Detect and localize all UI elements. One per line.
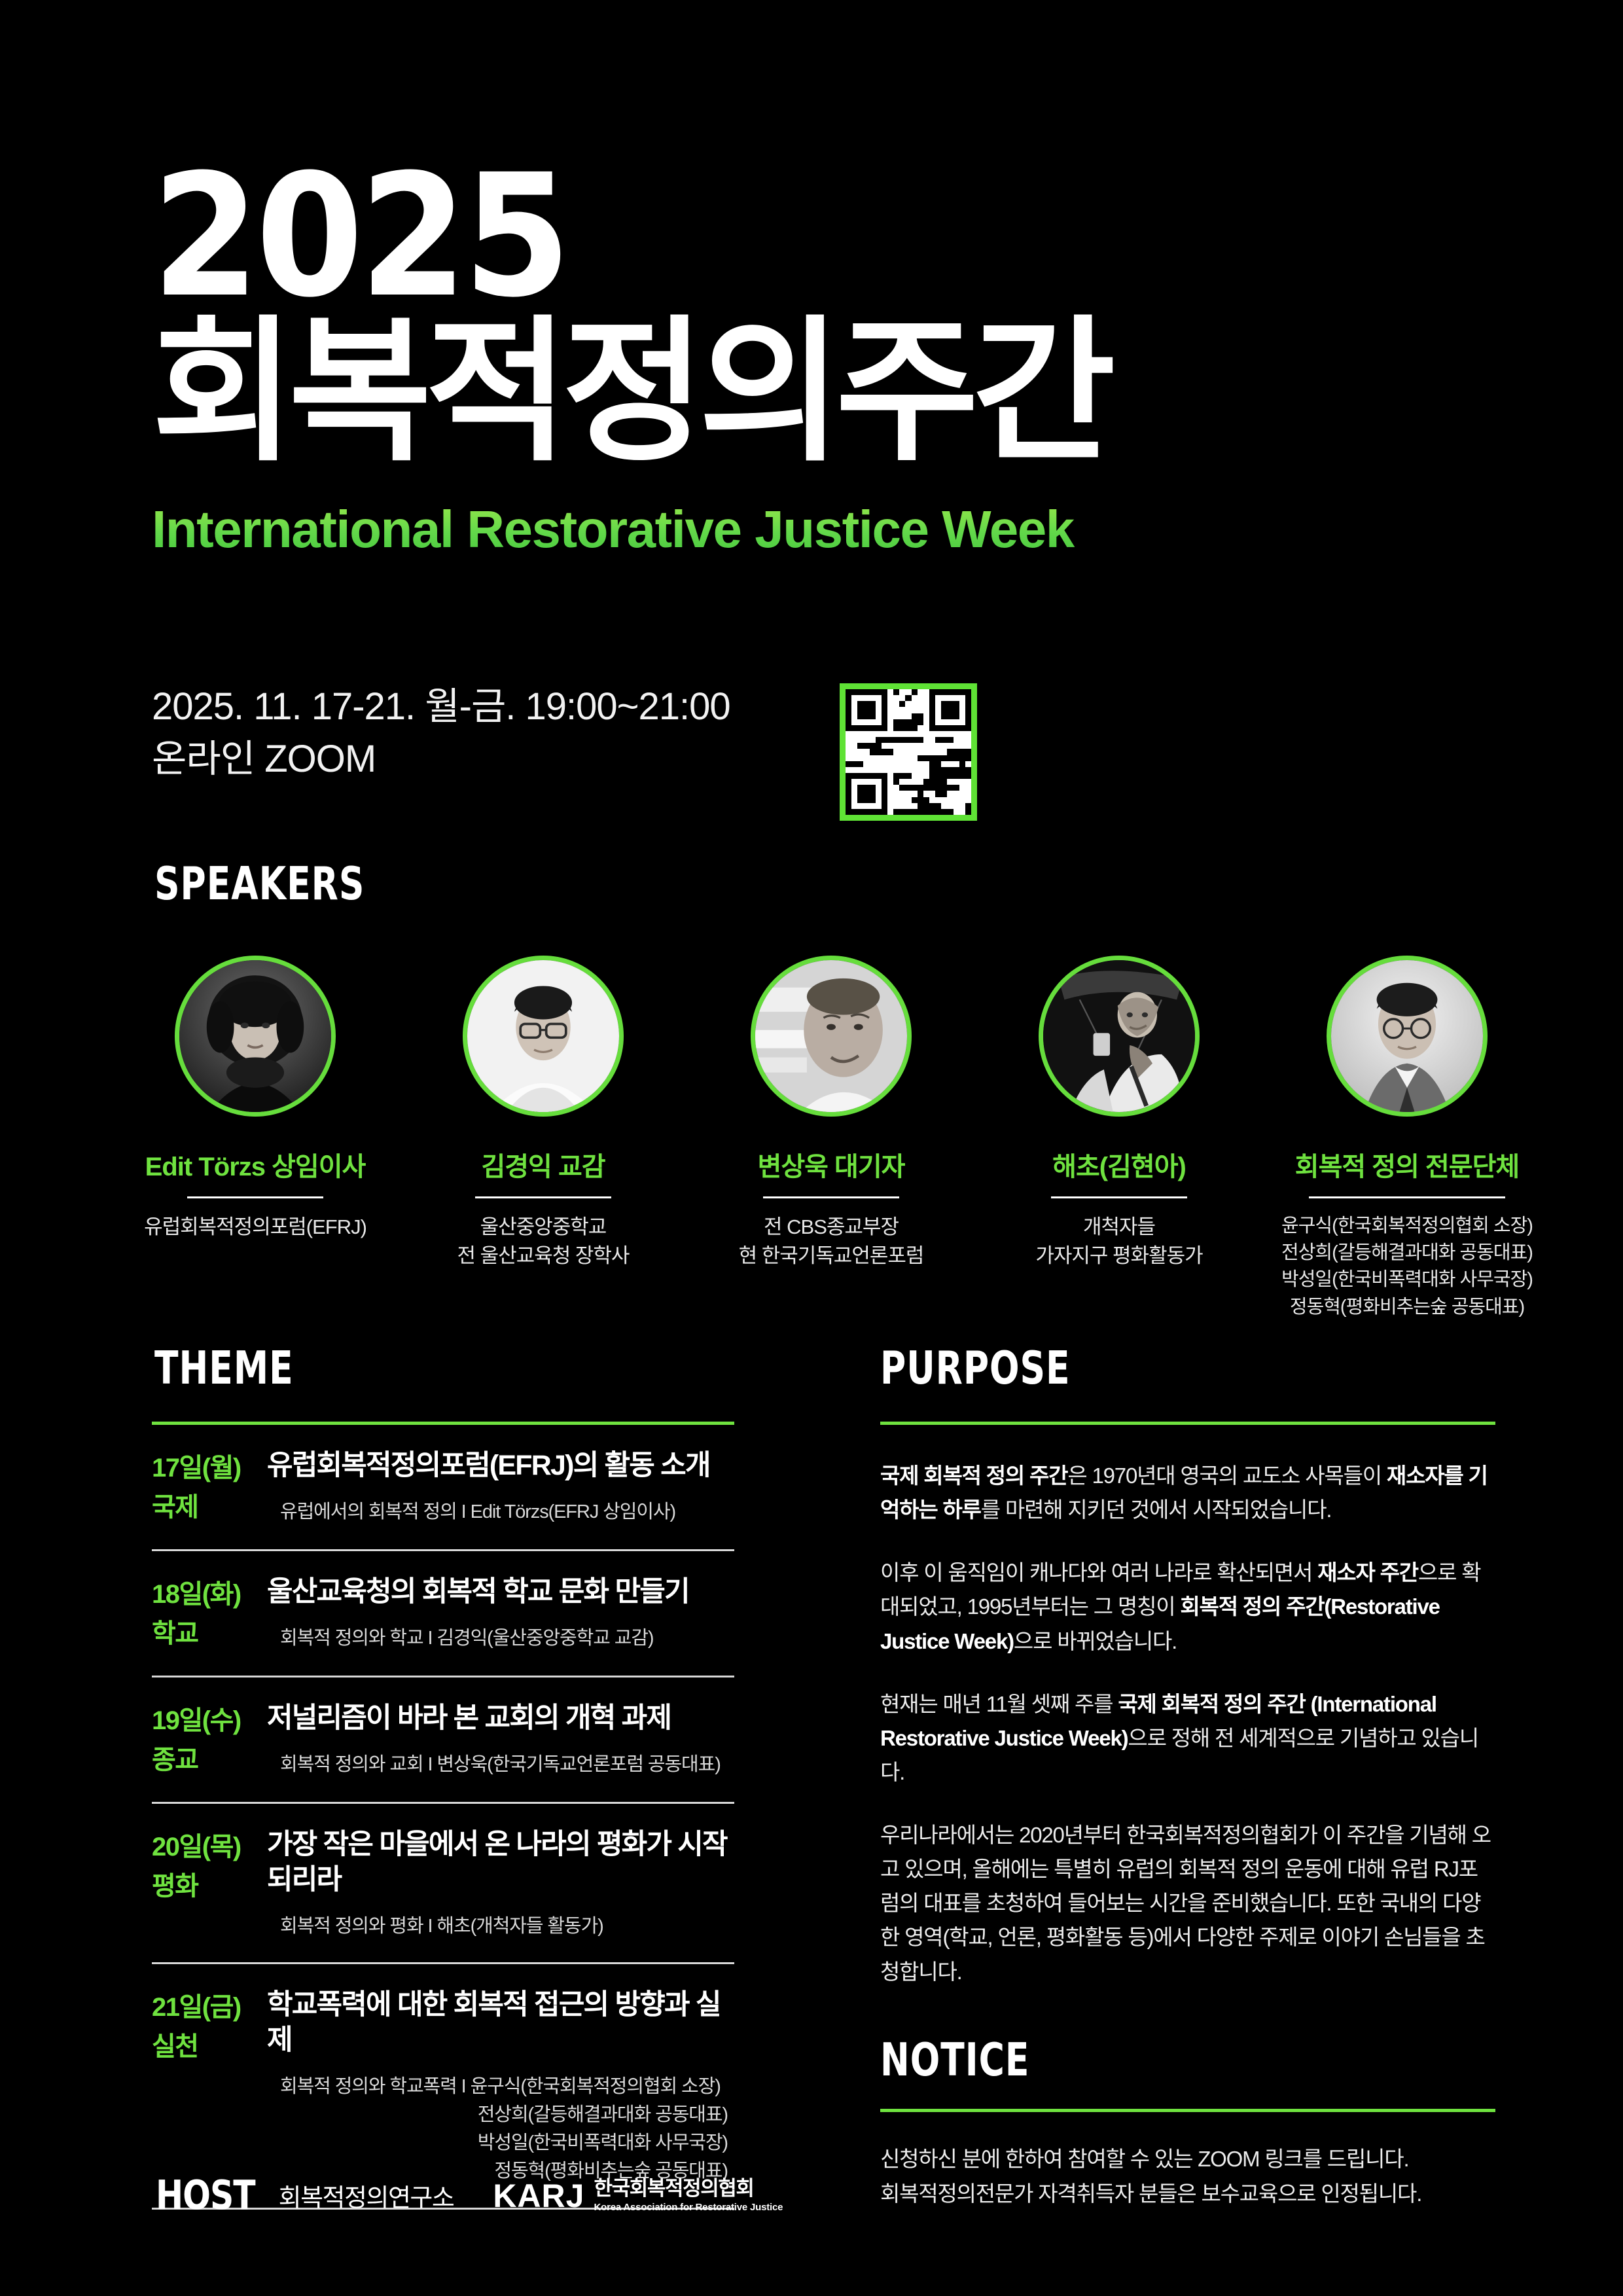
purpose-text-run: 으로 바뀌었습니다. [1014,1629,1177,1653]
speakers-section-heading: SPEAKERS [154,857,365,910]
speaker-card: 김경익 교감 울산중앙중학교전 울산교육청 장학사 [406,956,681,1270]
purpose-text-run: 현재는 매년 11월 셋째 주를 [880,1692,1118,1716]
purpose-text-run: 우리나라에서는 2020년부터 한국회복적정의협회가 이 주간을 기념해 오고 … [880,1823,1491,1984]
korean-main-title: 회복적정의주간 [152,315,1493,471]
theme-title: 가장 작은 마을에서 온 나라의 평화가 시작되리라 [267,1827,734,1898]
theme-content: 유럽회복적정의포럼(EFRJ)의 활동 소개 유럽에서의 회복적 정의 I Ed… [267,1448,734,1527]
speaker-divider [763,1196,899,1198]
english-main-title: International Restorative Justice Week [152,499,1493,560]
theme-day-label: 17일(월) 국제 [152,1448,267,1527]
karj-logo: KARJ 한국회복적정의협회 Korea Association for Res… [493,2177,783,2215]
speaker-affiliation: 개척자들가자지구 평화활동가 [982,1213,1257,1270]
speaker-avatar [463,956,624,1117]
notice-line: 신청하신 분에 한하여 참여할 수 있는 ZOOM 링크를 드립니다. [880,2142,1495,2177]
speaker-divider [475,1196,611,1198]
speaker-affiliation-line: 유럽회복적정의포럼(EFRJ) [118,1213,393,1242]
speaker-affiliation-line: 박성일(한국비폭력대화 사무국장) [1270,1266,1544,1293]
speaker-affiliation-line: 개척자들 [982,1213,1257,1242]
speaker-photo-wrap [1039,956,1200,1117]
theme-schedule-list: 17일(월) 국제 유럽회복적정의포럼(EFRJ)의 활동 소개 유럽에서의 회… [152,1422,734,2210]
speaker-affiliation-line: 윤구식(한국회복적정의협회 소장) [1270,1213,1544,1240]
theme-title: 울산교육청의 회복적 학교 문화 만들기 [267,1575,734,1610]
speaker-name: Edit Törzs 상임이사 [118,1145,393,1183]
theme-date: 18일(화) [152,1575,267,1614]
speaker-card: 해초(김현아) 개척자들가자지구 평화활동가 [982,956,1257,1270]
speaker-affiliation: 윤구식(한국회복적정의협회 소장)전상희(갈등해결과대화 공동대표)박성일(한국… [1270,1213,1544,1321]
karj-wordmark: KARJ [493,2177,584,2215]
speaker-affiliation-line: 울산중앙중학교 [406,1213,681,1242]
theme-date: 20일(목) [152,1827,267,1867]
theme-day-label: 21일(금) 실천 [152,1988,267,2185]
theme-content: 학교폭력에 대한 회복적 접근의 방향과 실제 회복적 정의와 학교폭력 I 윤… [267,1988,734,2185]
theme-content: 가장 작은 마을에서 온 나라의 평화가 시작되리라 회복적 정의와 평화 I … [267,1827,734,1940]
theme-subtitle: 회복적 정의와 학교 I 김경익(울산중앙중학교 교감) [267,1624,734,1653]
event-date-line: 2025. 11. 17-21. 월-금. 19:00~21:00 [152,681,730,733]
speaker-avatar [751,956,912,1117]
speaker-affiliation-line: 전상희(갈등해결과대화 공동대표) [1270,1240,1544,1266]
purpose-block: 국제 회복적 정의 주간은 1970년대 영국의 교도소 사목들이 재소자를 기… [880,1422,1495,2018]
purpose-emphasis: 재소자 주간 [1317,1560,1418,1585]
speaker-affiliation-line: 전 울산교육청 장학사 [406,1242,681,1270]
karj-english-name: Korea Association for Restorative Justic… [594,2202,783,2214]
speaker-affiliation-line: 정동혁(평화비추는숲 공동대표) [1270,1294,1544,1321]
theme-day-label: 18일(화) 학교 [152,1575,267,1653]
notice-divider [880,2109,1495,2112]
host-label: HOST [156,2172,255,2219]
theme-category: 종교 [152,1740,267,1780]
theme-row: 21일(금) 실천 학교폭력에 대한 회복적 접근의 방향과 실제 회복적 정의… [152,1964,734,2207]
speaker-name: 김경익 교감 [406,1145,681,1183]
theme-content: 저널리즘이 바라 본 교회의 개혁 과제 회복적 정의와 교회 I 변상욱(한국… [267,1701,734,1780]
purpose-section-heading: PURPOSE [880,1341,1071,1395]
host-org-institute: 회복적정의연구소 [279,2178,454,2214]
speaker-name: 회복적 정의 전문단체 [1270,1145,1544,1183]
theme-date: 19일(수) [152,1701,267,1740]
notice-line: 회복적정의전문가 자격취득자 분들은 보수교육으로 인정됩니다. [880,2177,1495,2212]
event-datetime-block: 2025. 11. 17-21. 월-금. 19:00~21:00 온라인 ZO… [152,681,730,785]
speaker-avatar [1039,956,1200,1117]
speaker-name: 해초(김현아) [982,1145,1257,1183]
purpose-divider [880,1422,1495,1425]
theme-row: 19일(수) 종교 저널리즘이 바라 본 교회의 개혁 과제 회복적 정의와 교… [152,1677,734,1802]
speaker-card: 회복적 정의 전문단체 윤구식(한국회복적정의협회 소장)전상희(갈등해결과대화… [1270,956,1544,1321]
speaker-affiliation-line: 가자지구 평화활동가 [982,1242,1257,1270]
theme-category: 국제 [152,1488,267,1527]
speakers-list: Edit Törzs 상임이사 유럽회복적정의포럼(EFRJ) [118,956,1544,1321]
theme-category: 평화 [152,1867,267,1906]
host-footer: HOST 회복적정의연구소 KARJ 한국회복적정의협회 Korea Assoc… [156,2174,783,2217]
speaker-photo-wrap [1327,956,1488,1117]
theme-row: 20일(목) 평화 가장 작은 마을에서 온 나라의 평화가 시작되리라 회복적… [152,1804,734,1962]
purpose-paragraph: 국제 회복적 정의 주간은 1970년대 영국의 교도소 사목들이 재소자를 기… [880,1459,1495,1527]
speaker-photo-wrap [751,956,912,1117]
theme-category: 학교 [152,1614,267,1653]
theme-day-label: 19일(수) 종교 [152,1701,267,1780]
theme-category: 실천 [152,2027,267,2066]
speaker-affiliation-line: 현 한국기독교언론포럼 [694,1242,969,1270]
karj-name-block: 한국회복적정의협회 Korea Association for Restorat… [594,2178,783,2214]
karj-korean-name: 한국회복적정의협회 [594,2178,783,2200]
theme-title: 학교폭력에 대한 회복적 접근의 방향과 실제 [267,1988,734,2058]
speaker-affiliation: 유럽회복적정의포럼(EFRJ) [118,1213,393,1242]
poster-root: 2025 회복적정의주간 International Restorative J… [0,0,1623,2296]
speaker-affiliation: 울산중앙중학교전 울산교육청 장학사 [406,1213,681,1270]
theme-subtitle: 회복적 정의와 교회 I 변상욱(한국기독교언론포럼 공동대표) [267,1751,734,1779]
speaker-divider [1051,1196,1187,1198]
speaker-card: 변상욱 대기자 전 CBS종교부장현 한국기독교언론포럼 [694,956,969,1270]
theme-content: 울산교육청의 회복적 학교 문화 만들기 회복적 정의와 학교 I 김경익(울산… [267,1575,734,1653]
theme-subtitle: 회복적 정의와 학교폭력 I 윤구식(한국회복적정의협회 소장)전상희(갈등해결… [267,2073,734,2185]
speaker-card: Edit Törzs 상임이사 유럽회복적정의포럼(EFRJ) [118,956,393,1242]
theme-subtitle: 유럽에서의 회복적 정의 I Edit Törzs(EFRJ 상임이사) [267,1498,734,1526]
notice-section-heading: NOTICE [880,2033,1029,2087]
theme-extra-speaker: 박성일(한국비폭력대화 사무국장) [280,2129,734,2157]
qr-code[interactable] [840,683,977,821]
purpose-paragraph: 현재는 매년 11월 셋째 주를 국제 회복적 정의 주간 (Internati… [880,1687,1495,1789]
purpose-emphasis: 국제 회복적 정의 주간 [880,1463,1067,1488]
theme-row: 18일(화) 학교 울산교육청의 회복적 학교 문화 만들기 회복적 정의와 학… [152,1551,734,1676]
speaker-affiliation-line: 전 CBS종교부장 [694,1213,969,1242]
notice-body-text: 신청하신 분에 한하여 참여할 수 있는 ZOOM 링크를 드립니다.회복적정의… [880,2142,1495,2212]
qr-code-modules [846,689,971,815]
speaker-divider [1309,1196,1505,1198]
event-venue-line: 온라인 ZOOM [152,733,730,785]
purpose-text-run: 은 1970년대 영국의 교도소 사목들이 [1067,1463,1387,1488]
theme-date: 21일(금) [152,1988,267,2027]
theme-subtitle: 회복적 정의와 평화 I 해초(개척자들 활동가) [267,1912,734,1941]
purpose-body-text: 국제 회복적 정의 주간은 1970년대 영국의 교도소 사목들이 재소자를 기… [880,1459,1495,1989]
theme-title: 저널리즘이 바라 본 교회의 개혁 과제 [267,1701,734,1736]
theme-row: 17일(월) 국제 유럽회복적정의포럼(EFRJ)의 활동 소개 유럽에서의 회… [152,1425,734,1549]
purpose-text-run: 를 마련해 지키던 것에서 시작되었습니다. [981,1498,1332,1522]
year-title: 2025 [152,162,1520,311]
theme-extra-speaker: 전상희(갈등해결과대화 공동대표) [280,2101,734,2129]
theme-day-label: 20일(목) 평화 [152,1827,267,1940]
speaker-avatar [1327,956,1488,1117]
speaker-divider [187,1196,323,1198]
poster-header: 2025 회복적정의주간 International Restorative J… [152,162,1493,560]
purpose-text-run: 이후 이 움직임이 캐나다와 여러 나라로 확산되면서 [880,1560,1317,1585]
theme-title: 유럽회복적정의포럼(EFRJ)의 활동 소개 [267,1448,734,1484]
speaker-avatar [175,956,336,1117]
purpose-paragraph: 우리나라에서는 2020년부터 한국회복적정의협회가 이 주간을 기념해 오고 … [880,1818,1495,1989]
speaker-photo-wrap [463,956,624,1117]
speaker-photo-wrap [175,956,336,1117]
notice-block: 신청하신 분에 한하여 참여할 수 있는 ZOOM 링크를 드립니다.회복적정의… [880,2109,1495,2212]
speaker-affiliation: 전 CBS종교부장현 한국기독교언론포럼 [694,1213,969,1270]
speaker-name: 변상욱 대기자 [694,1145,969,1183]
theme-section-heading: THEME [154,1341,294,1395]
purpose-paragraph: 이후 이 움직임이 캐나다와 여러 나라로 확산되면서 재소자 주간으로 확대되… [880,1556,1495,1658]
theme-date: 17일(월) [152,1448,267,1488]
